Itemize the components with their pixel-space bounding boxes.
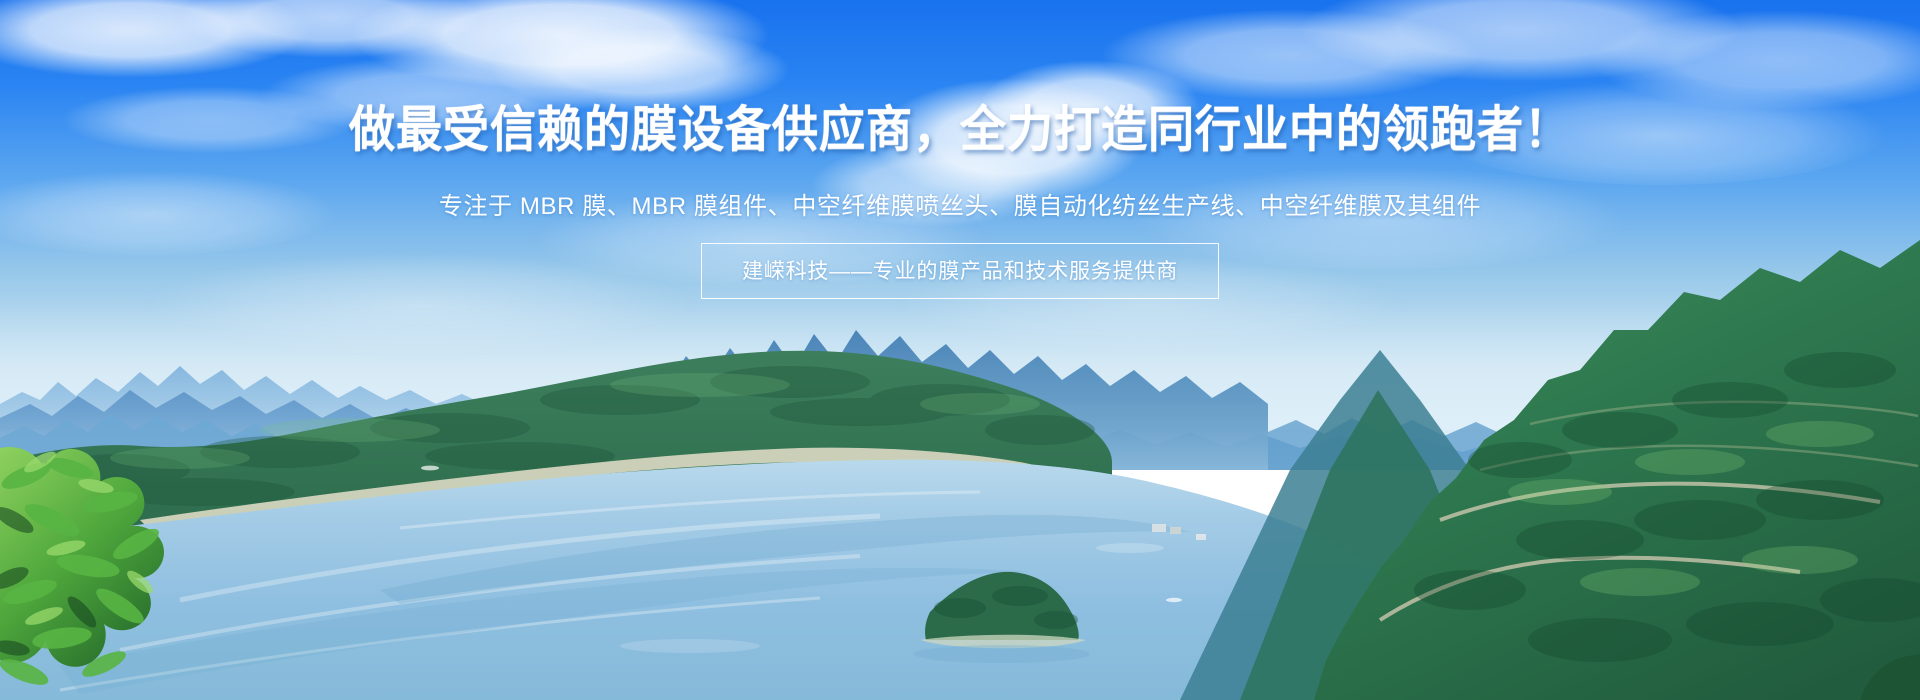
hero-banner: 做最受信赖的膜设备供应商，全力打造同行业中的领跑者！ 专注于 MBR 膜、MBR…	[0, 0, 1920, 700]
banner-tagline-box: 建嵘科技——专业的膜产品和技术服务提供商	[701, 243, 1219, 299]
banner-tagline-wrapper: 建嵘科技——专业的膜产品和技术服务提供商	[0, 243, 1920, 299]
banner-subtitle: 专注于 MBR 膜、MBR 膜组件、中空纤维膜喷丝头、膜自动化纺丝生产线、中空纤…	[0, 186, 1920, 221]
banner-headline: 做最受信赖的膜设备供应商，全力打造同行业中的领跑者！	[58, 103, 1863, 158]
